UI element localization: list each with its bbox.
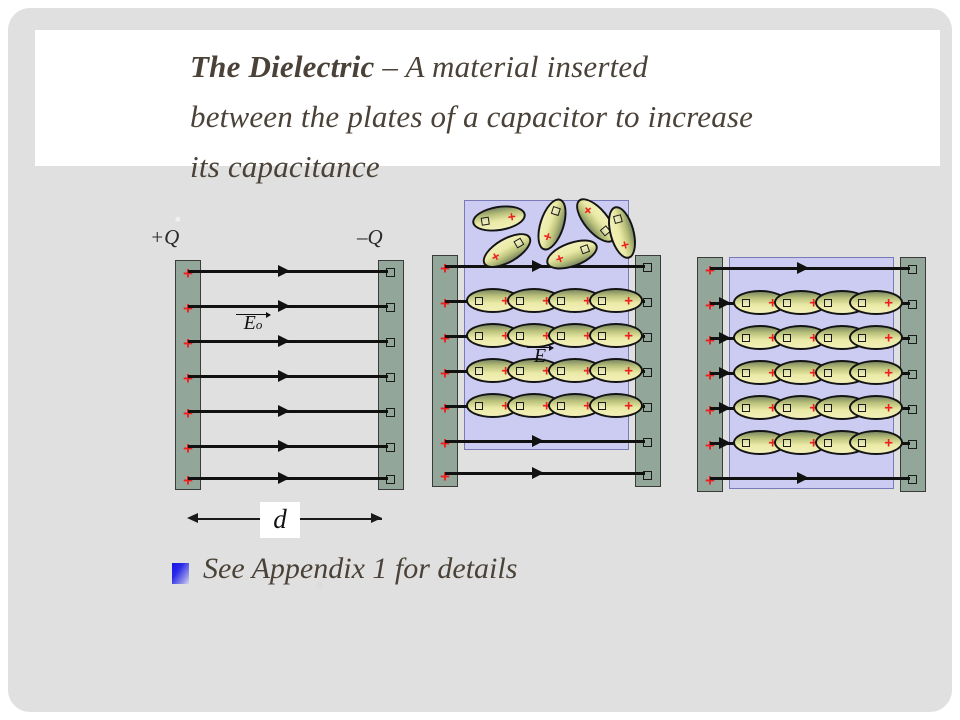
label-plus-q: +Q bbox=[150, 225, 179, 250]
vector-arrow-icon bbox=[236, 314, 270, 315]
field-arrow-head-icon bbox=[719, 402, 731, 414]
title-line-2: between the plates of a capacitor to inc… bbox=[190, 92, 753, 142]
dipole-negative-icon bbox=[742, 334, 750, 342]
charge-plus: + bbox=[179, 405, 197, 422]
dipole-positive-icon: + bbox=[617, 239, 634, 251]
charge-plus: + bbox=[179, 472, 197, 489]
charge-plus: + bbox=[701, 297, 719, 314]
label-field-e-naught: Eo bbox=[236, 314, 270, 335]
vector-arrow-icon bbox=[527, 347, 553, 348]
title-line-1: The Dielectric – A material inserted bbox=[190, 42, 648, 92]
charge-plus: + bbox=[436, 435, 454, 452]
charge-plus: + bbox=[701, 367, 719, 384]
dipole-negative-icon bbox=[516, 402, 524, 410]
dipole-negative-icon bbox=[783, 439, 791, 447]
figure-capacitor-vacuum: +Q –Q + + + + + + + Eo bbox=[150, 225, 400, 525]
dipole-aligned: + bbox=[849, 430, 903, 455]
dipole-negative-icon bbox=[613, 214, 623, 224]
dipole-negative-icon bbox=[557, 332, 565, 340]
dipole-negative-icon bbox=[598, 297, 606, 305]
dipole-negative-icon bbox=[824, 334, 832, 342]
dipole-negative-icon bbox=[551, 206, 561, 216]
dipole-negative-icon bbox=[598, 332, 606, 340]
dipole-negative-icon bbox=[824, 439, 832, 447]
dipole-positive-icon: + bbox=[624, 398, 633, 413]
field-arrow-head-icon bbox=[278, 472, 290, 484]
dipole-positive-icon: + bbox=[624, 363, 633, 378]
title-line-3: its capacitance bbox=[190, 142, 380, 192]
dipole-negative-icon bbox=[514, 238, 525, 249]
field-line bbox=[445, 440, 645, 443]
dipole-positive-icon: + bbox=[624, 293, 633, 308]
dipole-aligned: + bbox=[849, 290, 903, 315]
charge-plus: + bbox=[436, 295, 454, 312]
figure-capacitor-partial-dielectric: + + + + + + + + + + + + + + + + bbox=[432, 200, 662, 510]
footer-note: See Appendix 1 for details bbox=[203, 552, 517, 586]
dipole-negative-icon bbox=[475, 297, 483, 305]
dipole-negative-icon bbox=[557, 402, 565, 410]
field-arrow-head-icon bbox=[278, 335, 290, 347]
dipole-negative-icon bbox=[858, 299, 866, 307]
dipole-negative-icon bbox=[742, 299, 750, 307]
charge-plus: + bbox=[436, 400, 454, 417]
dipole-negative-icon bbox=[742, 404, 750, 412]
dipole-negative-icon bbox=[580, 245, 590, 255]
field-line bbox=[710, 477, 910, 480]
dipole-negative-icon bbox=[475, 402, 483, 410]
dipole-negative-icon bbox=[783, 299, 791, 307]
charge-plus: + bbox=[436, 260, 454, 277]
field-arrow-head-icon bbox=[532, 467, 544, 479]
dipole-aligned: + bbox=[849, 395, 903, 420]
charge-plus: + bbox=[179, 370, 197, 387]
field-arrow-head-icon bbox=[797, 262, 809, 274]
dipole-negative-icon bbox=[516, 297, 524, 305]
charge-plus: + bbox=[436, 365, 454, 382]
dipole-negative-icon bbox=[598, 367, 606, 375]
charge-plus: + bbox=[701, 472, 719, 489]
dipole-negative-icon bbox=[742, 439, 750, 447]
field-arrow-head-icon bbox=[719, 332, 731, 344]
field-arrow-head-icon bbox=[278, 405, 290, 417]
dipole-negative-icon bbox=[858, 334, 866, 342]
dipole-negative-icon bbox=[598, 402, 606, 410]
field-line bbox=[710, 267, 910, 270]
dipole-negative-icon bbox=[481, 216, 490, 225]
charge-plus: + bbox=[436, 330, 454, 347]
dipole-positive-icon: + bbox=[624, 328, 633, 343]
charge-plus: + bbox=[701, 262, 719, 279]
dipole-negative-icon bbox=[557, 367, 565, 375]
field-arrow-head-icon bbox=[797, 472, 809, 484]
field-arrow-head-icon bbox=[719, 437, 731, 449]
dipole-negative-icon bbox=[858, 404, 866, 412]
field-arrow-head-icon bbox=[719, 297, 731, 309]
charge-plus: + bbox=[701, 332, 719, 349]
dipole-negative-icon bbox=[824, 299, 832, 307]
dipole-positive-icon: + bbox=[540, 231, 557, 243]
field-arrow-head-icon bbox=[278, 265, 290, 277]
dipole-negative-icon bbox=[742, 369, 750, 377]
e-subscript: o bbox=[256, 317, 263, 332]
distance-arrow-left-icon bbox=[187, 513, 198, 523]
dipole-negative-icon bbox=[824, 369, 832, 377]
field-arrow-head-icon bbox=[532, 435, 544, 447]
dipole-negative-icon bbox=[516, 367, 524, 375]
charge-plus: + bbox=[179, 265, 197, 282]
dipole-positive-icon: + bbox=[579, 203, 596, 219]
dipole-aligned: + bbox=[589, 393, 643, 418]
e-symbol: E bbox=[534, 345, 546, 367]
dipole-negative-icon bbox=[858, 439, 866, 447]
label-minus-q: –Q bbox=[357, 225, 383, 250]
dipole-positive-icon: + bbox=[884, 435, 893, 450]
footer-bullet-icon bbox=[172, 563, 189, 584]
charge-plus: + bbox=[701, 437, 719, 454]
title-line-1-rest: – A material inserted bbox=[374, 49, 648, 84]
field-arrow-head-icon bbox=[719, 367, 731, 379]
dipole-negative-icon bbox=[783, 369, 791, 377]
dipole-aligned: + bbox=[589, 323, 643, 348]
charge-plus: + bbox=[179, 335, 197, 352]
dipole-aligned: + bbox=[849, 360, 903, 385]
e-symbol: E bbox=[244, 312, 256, 334]
charge-plus: + bbox=[436, 468, 454, 485]
field-arrow-head-icon bbox=[278, 440, 290, 452]
figure-capacitor-full-dielectric: + + + + + + + + + + + bbox=[697, 252, 927, 502]
dipole-negative-icon bbox=[858, 369, 866, 377]
dipole-positive-icon: + bbox=[553, 250, 566, 267]
dipole-negative-icon bbox=[783, 404, 791, 412]
field-line bbox=[445, 472, 645, 475]
dipole-aligned: + bbox=[589, 358, 643, 383]
field-arrow-head-icon bbox=[532, 260, 544, 272]
distance-arrow-right-icon bbox=[371, 513, 382, 523]
slide: The Dielectric – A material inserted bet… bbox=[0, 0, 960, 720]
dipole-negative-icon bbox=[516, 332, 524, 340]
dipole-negative-icon bbox=[475, 367, 483, 375]
label-distance-d: d bbox=[260, 502, 300, 538]
dipole-aligned: + bbox=[849, 325, 903, 350]
field-arrow-head-icon bbox=[278, 300, 290, 312]
dipole-positive-icon: + bbox=[884, 365, 893, 380]
dipole-positive-icon: + bbox=[507, 208, 517, 224]
dipole-positive-icon: + bbox=[884, 330, 893, 345]
dipole-positive-icon: + bbox=[884, 400, 893, 415]
label-field-e: E bbox=[527, 347, 553, 368]
charge-plus: + bbox=[701, 402, 719, 419]
dipole-negative-icon bbox=[557, 297, 565, 305]
charge-plus: + bbox=[179, 440, 197, 457]
charge-plus: + bbox=[179, 300, 197, 317]
title-keyword: The Dielectric bbox=[190, 49, 374, 84]
field-line bbox=[445, 265, 645, 268]
dipole-aligned: + bbox=[589, 288, 643, 313]
dipole-negative-icon bbox=[824, 404, 832, 412]
field-arrow-head-icon bbox=[278, 370, 290, 382]
dipole-positive-icon: + bbox=[489, 248, 504, 265]
dipole-negative-icon bbox=[783, 334, 791, 342]
dipole-positive-icon: + bbox=[884, 295, 893, 310]
dipole-negative-icon bbox=[475, 332, 483, 340]
